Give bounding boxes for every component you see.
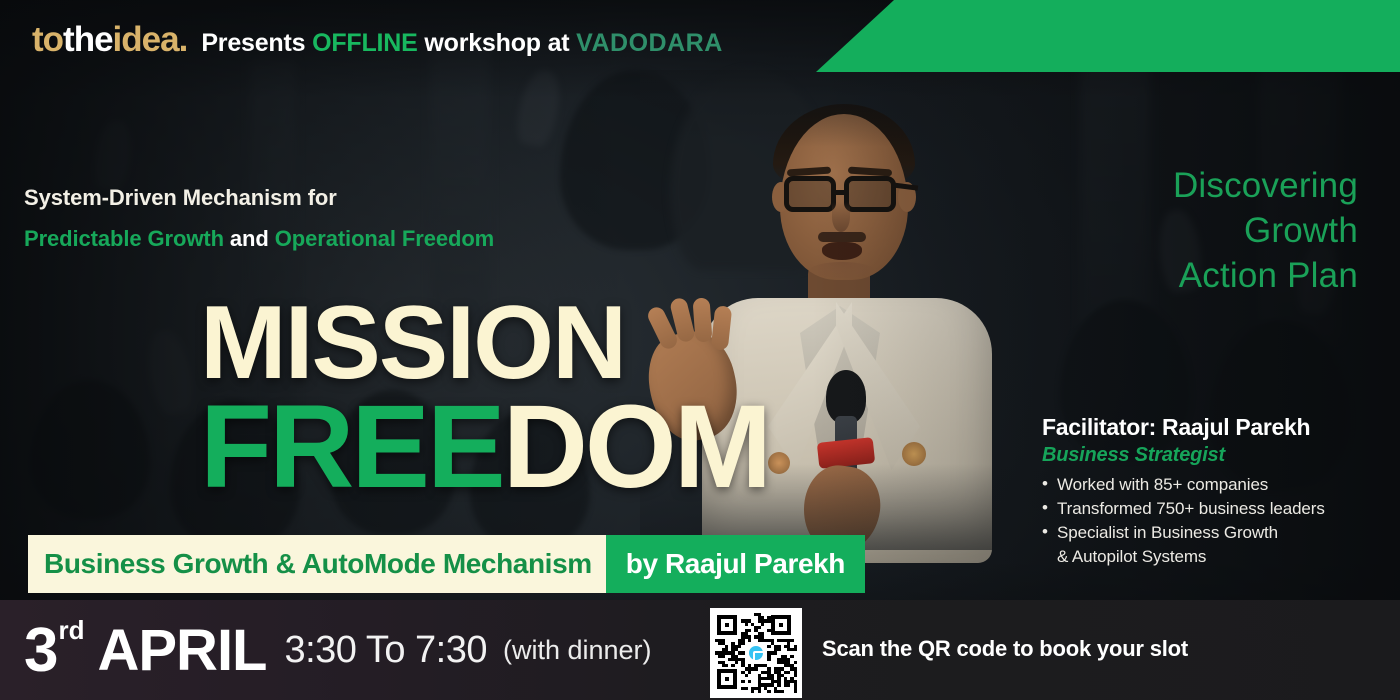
green-accent-shape-top-right [816,0,1400,72]
list-item: & Autopilot Systems [1042,545,1392,569]
strip-presenter: by Raajul Parekh [606,535,865,593]
logo-part-the: the [63,20,113,59]
dga-line-3: Action Plan [1173,254,1358,299]
tagline-offline: OFFLINE [312,29,418,57]
facilitator-name: Facilitator: Raajul Parekh [1042,414,1392,441]
credential-text: Transformed 750+ business leaders [1057,499,1325,518]
qr-finder-top-right [771,615,791,635]
facilitator-block: Facilitator: Raajul Parekh Business Stra… [1042,414,1392,570]
dga-line-1: Discovering [1173,164,1358,209]
subhead-line-2: Predictable Growth and Operational Freed… [24,226,494,252]
event-day: 3 [24,615,57,686]
qr-finder-top-left [717,615,737,635]
logo-part-to: to [32,20,63,59]
credential-text: Worked with 85+ companies [1057,475,1268,494]
banner-header: totheidea. Presents OFFLINE workshop at … [32,20,723,60]
event-day-ordinal: rd [58,615,84,646]
facilitator-credentials-list: •Worked with 85+ companies •Transformed … [1042,473,1392,570]
logo-part-idea: idea. [113,20,188,59]
subhead-predictable-growth: Predictable Growth [24,226,224,251]
credential-text: & Autopilot Systems [1057,547,1206,566]
list-item: •Specialist in Business Growth [1042,521,1392,545]
title-free: FREE [200,381,503,513]
title-dom: DOM [503,381,769,513]
subhead-line-1: System-Driven Mechanism for [24,185,337,211]
event-datetime: 3rd APRIL 3:30 To 7:30 (with dinner) [24,604,652,696]
dga-line-2: Growth [1173,209,1358,254]
qr-code[interactable] [710,608,802,698]
subhead-and: and [230,226,269,251]
event-month: APRIL [97,617,266,684]
workshop-promo-banner: totheidea. Presents OFFLINE workshop at … [0,0,1400,700]
title-freedom: FREEDOM [200,393,769,502]
tagline-presents: Presents [201,29,305,57]
discovering-growth-action-plan: Discovering Growth Action Plan [1173,164,1358,298]
qr-finder-bottom-left [717,669,737,689]
brand-logo: totheidea. [32,20,187,60]
facilitator-role: Business Strategist [1042,444,1392,467]
qr-center-logo-icon [746,643,766,663]
tagline-workshop-at: workshop at [424,29,569,57]
subhead-operational-freedom: Operational Freedom [275,226,494,251]
credential-text: Specialist in Business Growth [1057,523,1278,542]
list-item: •Worked with 85+ companies [1042,473,1392,497]
event-dinner-note: (with dinner) [503,635,652,666]
tagline-city: VADODARA [576,29,723,57]
tagline-strip: Business Growth & AutoMode Mechanism by … [28,535,865,593]
bullet-icon: • [1042,496,1048,520]
header-tagline: Presents OFFLINE workshop at VADODARA [201,29,722,58]
title-mission: MISSION [200,296,625,392]
strip-subject: Business Growth & AutoMode Mechanism [28,535,606,593]
bullet-icon: • [1042,520,1048,544]
bullet-icon: • [1042,472,1048,496]
scan-instruction: Scan the QR code to book your slot [822,636,1188,662]
event-time: 3:30 To 7:30 [284,629,486,672]
list-item: •Transformed 750+ business leaders [1042,497,1392,521]
